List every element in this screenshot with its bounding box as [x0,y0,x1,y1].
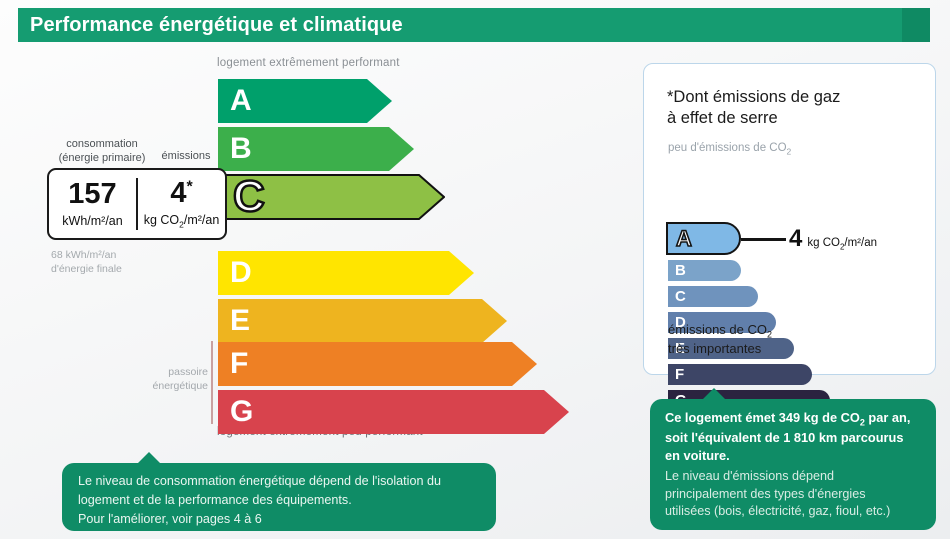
emissions-unit: kg CO2/m²/an [144,213,220,230]
dpe-class-b: B [217,126,415,172]
ges-class-b: B [668,260,741,281]
ges-bottom-descriptor: émissions de CO2très importantes [668,322,772,358]
dpe-arrow-shape [217,298,508,344]
dpe-class-letter: B [230,134,252,164]
dpe-arrow-shape [217,250,475,296]
dpe-class-d: D [217,250,475,296]
ges-value-group: 4 kg CO2/m²/an [789,227,877,251]
dpe-class-letter: E [230,306,250,336]
callout-left-text: Le niveau de consommation énergétique dé… [78,472,480,529]
final-energy-note: 68 kWh/m²/and'énergie finale [51,248,122,276]
passoire-energetique-label: passoireénergétique [130,366,208,393]
emissions-caption: émissions [148,150,224,162]
ges-class-letter: B [668,263,686,278]
ges-value-unit: kg CO2/m²/an [807,237,877,251]
page-title-banner: Performance énergétique et climatique [18,8,930,42]
dpe-class-g: G [217,389,570,435]
ges-panel-title: *Dont émissions de gazà effet de serre [667,87,840,129]
consumption-value-box: 157 kWh/m²/an 4* kg CO2/m²/an [47,168,227,240]
callout-emissions-info: Ce logement émet 349 kg de CO2 par an,so… [650,399,936,530]
dpe-class-letter: C [233,175,265,219]
ges-class-letter: F [668,367,684,382]
passoire-bracket [211,341,213,424]
ges-class-a: A [666,222,741,255]
consumption-half: 157 kWh/m²/an [49,170,136,238]
consumption-unit: kWh/m²/an [62,214,122,228]
callout-right-headline: Ce logement émet 349 kg de CO2 par an,so… [665,409,921,466]
dpe-arrow-shape [217,389,570,435]
ges-class-letter: C [668,289,686,304]
dpe-energy-label-page: Performance énergétique et climatique lo… [0,0,950,539]
dpe-class-a: A [217,78,393,124]
dpe-arrow-shape [217,341,538,387]
consumption-value: 157 [68,180,116,209]
ges-class-c: C [668,286,758,307]
consumption-caption: consommation(énergie primaire) [48,138,156,166]
callout-tail [137,452,161,464]
ges-panel: *Dont émissions de gazà effet de serre p… [643,63,936,375]
dpe-class-letter: G [230,397,253,427]
callout-right-detail: Le niveau d'émissions dépend principalem… [665,468,921,522]
dpe-class-letter: A [230,86,252,116]
dpe-class-letter: F [230,349,248,379]
ges-top-descriptor: peu d'émissions de CO2 [668,142,791,156]
callout-tail [702,388,726,400]
dpe-class-c: C [217,174,445,220]
emissions-value: 4* [170,179,192,208]
emissions-half: 4* kg CO2/m²/an [138,170,225,238]
callout-consumption-advice: Le niveau de consommation énergétique dé… [62,463,496,531]
dpe-class-letter: D [230,258,252,288]
dpe-class-e: E [217,298,508,344]
ges-class-f: F [668,364,812,385]
ges-value: 4 [789,227,802,251]
dpe-top-descriptor: logement extrêmement performant [217,57,400,69]
ges-class-letter: A [668,228,692,250]
ges-leader-line [741,238,786,241]
page-title: Performance énergétique et climatique [18,14,403,37]
banner-end-cap [902,8,930,42]
dpe-class-f: F [217,341,538,387]
